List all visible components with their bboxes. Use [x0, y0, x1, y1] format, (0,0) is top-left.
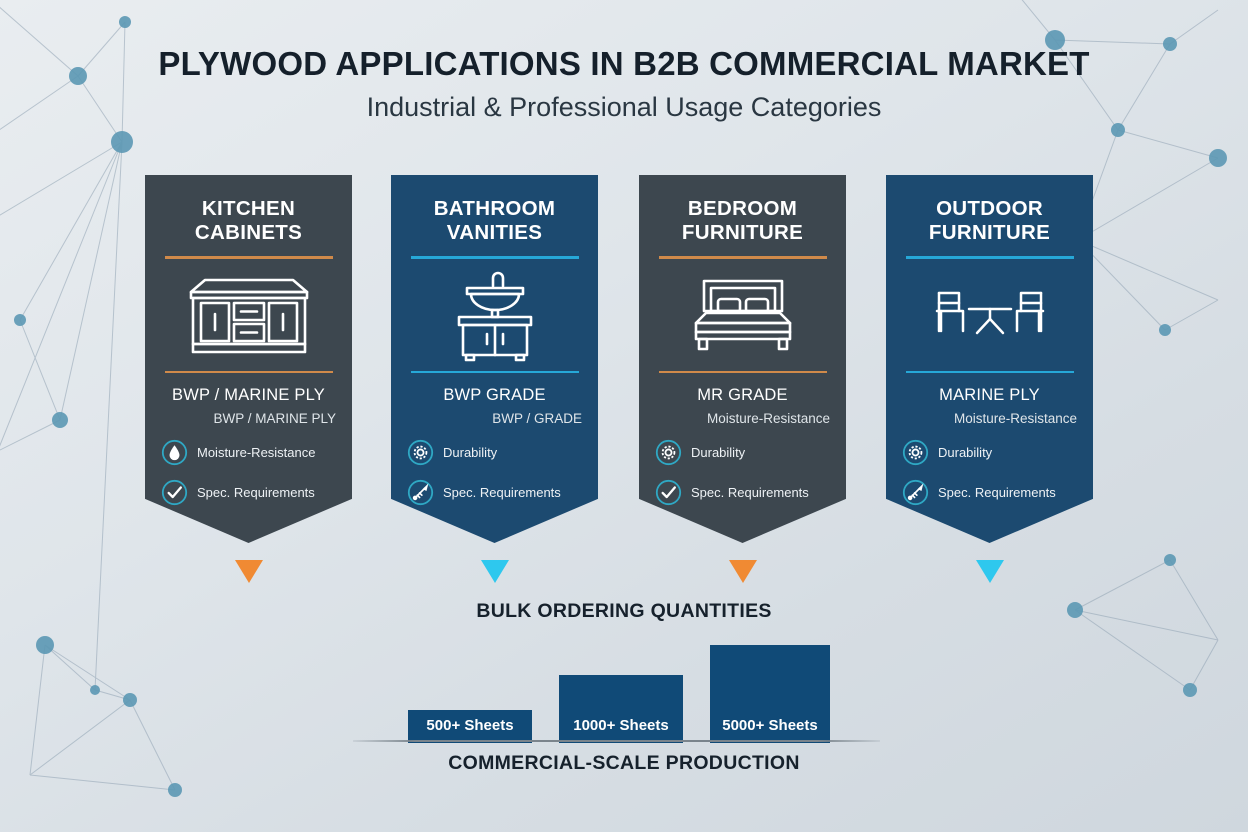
card-arrow-marker: [729, 560, 757, 583]
category-card-bathroom-vanities[interactable]: BATHROOM VANITIES: [391, 175, 598, 543]
card-feature: Spec. Requirements: [900, 479, 1079, 506]
card-grade-sub: Moisture-Resistance: [653, 411, 832, 426]
card-title: OUTDOOR FURNITURE: [900, 197, 1079, 247]
card-title-line2: FURNITURE: [653, 221, 832, 245]
card-title-line2: CABINETS: [159, 221, 338, 245]
page-subtitle: Industrial & Professional Usage Categori…: [0, 92, 1248, 123]
divider-bottom: [659, 371, 827, 374]
droplet-icon: [161, 439, 188, 466]
feature-label: Spec. Requirements: [197, 485, 315, 500]
card-arrow-marker: [235, 560, 263, 583]
chart-plot-area: 500+ Sheets 1000+ Sheets 5000+ Sheets: [0, 641, 1248, 743]
chart-baseline-axis: [353, 740, 880, 742]
check-icon: [161, 479, 188, 506]
card-feature: Moisture-Resistance: [159, 439, 338, 466]
outdoor-table-chairs-icon: [929, 285, 1051, 345]
feature-label: Spec. Requirements: [443, 485, 561, 500]
card-icon-area: [405, 259, 584, 371]
infographic-canvas: PLYWOOD APPLICATIONS IN B2B COMMERCIAL M…: [0, 0, 1248, 832]
bar-1000-sheets[interactable]: 1000+ Sheets: [559, 675, 683, 743]
card-title: BEDROOM FURNITURE: [653, 197, 832, 247]
gear-icon: [407, 439, 434, 466]
card-arrow-marker: [481, 560, 509, 583]
category-card-outdoor-furniture[interactable]: OUTDOOR FURNITURE: [886, 175, 1093, 543]
card-body: KITCHEN CABINETS: [145, 175, 352, 543]
check-icon: [655, 479, 682, 506]
card-title-line1: BEDROOM: [653, 197, 832, 221]
gear-icon: [655, 439, 682, 466]
card-icon-area: [900, 259, 1079, 371]
bed-icon: [682, 275, 804, 355]
bulk-order-chart: BULK ORDERING QUANTITIES 500+ Sheets 100…: [0, 600, 1248, 743]
card-grade: BWP GRADE: [405, 386, 584, 405]
card-body: BATHROOM VANITIES: [391, 175, 598, 543]
bathroom-vanity-icon: [443, 268, 547, 362]
card-title-line2: VANITIES: [405, 221, 584, 245]
card-feature: Durability: [900, 439, 1079, 466]
category-card-bedroom-furniture[interactable]: BEDROOM FURNITURE: [639, 175, 846, 543]
feature-label: Moisture-Resistance: [197, 445, 316, 460]
card-grade-sub: BWP / GRADE: [405, 411, 584, 426]
feature-label: Durability: [443, 445, 497, 460]
feature-label: Spec. Requirements: [691, 485, 809, 500]
card-grade: MARINE PLY: [900, 386, 1079, 405]
card-title: KITCHEN CABINETS: [159, 197, 338, 247]
bar-5000-sheets[interactable]: 5000+ Sheets: [710, 645, 830, 743]
card-title-line1: KITCHEN: [159, 197, 338, 221]
card-body: BEDROOM FURNITURE: [639, 175, 846, 543]
category-cards: KITCHEN CABINETS: [0, 175, 1248, 595]
card-grade: MR GRADE: [653, 386, 832, 405]
gear-icon: [902, 439, 929, 466]
feature-label: Durability: [938, 445, 992, 460]
divider-bottom: [165, 371, 333, 374]
card-feature: Spec. Requirements: [405, 479, 584, 506]
card-title: BATHROOM VANITIES: [405, 197, 584, 247]
feature-label: Spec. Requirements: [938, 485, 1056, 500]
chart-title: BULK ORDERING QUANTITIES: [0, 600, 1248, 623]
card-grade: BWP / MARINE PLY: [159, 386, 338, 405]
card-feature: Durability: [653, 439, 832, 466]
card-feature: Durability: [405, 439, 584, 466]
wrench-icon: [902, 479, 929, 506]
page-title: PLYWOOD APPLICATIONS IN B2B COMMERCIAL M…: [0, 46, 1248, 82]
card-title-line2: FURNITURE: [900, 221, 1079, 245]
card-icon-area: [653, 259, 832, 371]
divider-bottom: [411, 371, 579, 374]
card-icon-area: [159, 259, 338, 371]
card-arrow-marker: [976, 560, 1004, 583]
card-feature: Spec. Requirements: [653, 479, 832, 506]
bar-500-sheets[interactable]: 500+ Sheets: [408, 710, 532, 743]
card-grade-sub: BWP / MARINE PLY: [159, 411, 338, 426]
divider-bottom: [906, 371, 1074, 374]
header: PLYWOOD APPLICATIONS IN B2B COMMERCIAL M…: [0, 46, 1248, 123]
card-grade-sub: Moisture-Resistance: [900, 411, 1079, 426]
card-body: OUTDOOR FURNITURE: [886, 175, 1093, 543]
chart-caption: COMMERCIAL-SCALE PRODUCTION: [0, 752, 1248, 775]
category-card-kitchen-cabinets[interactable]: KITCHEN CABINETS: [145, 175, 352, 543]
feature-label: Durability: [691, 445, 745, 460]
wrench-icon: [407, 479, 434, 506]
card-title-line1: BATHROOM: [405, 197, 584, 221]
card-title-line1: OUTDOOR: [900, 197, 1079, 221]
kitchen-cabinet-icon: [179, 272, 319, 358]
card-feature: Spec. Requirements: [159, 479, 338, 506]
